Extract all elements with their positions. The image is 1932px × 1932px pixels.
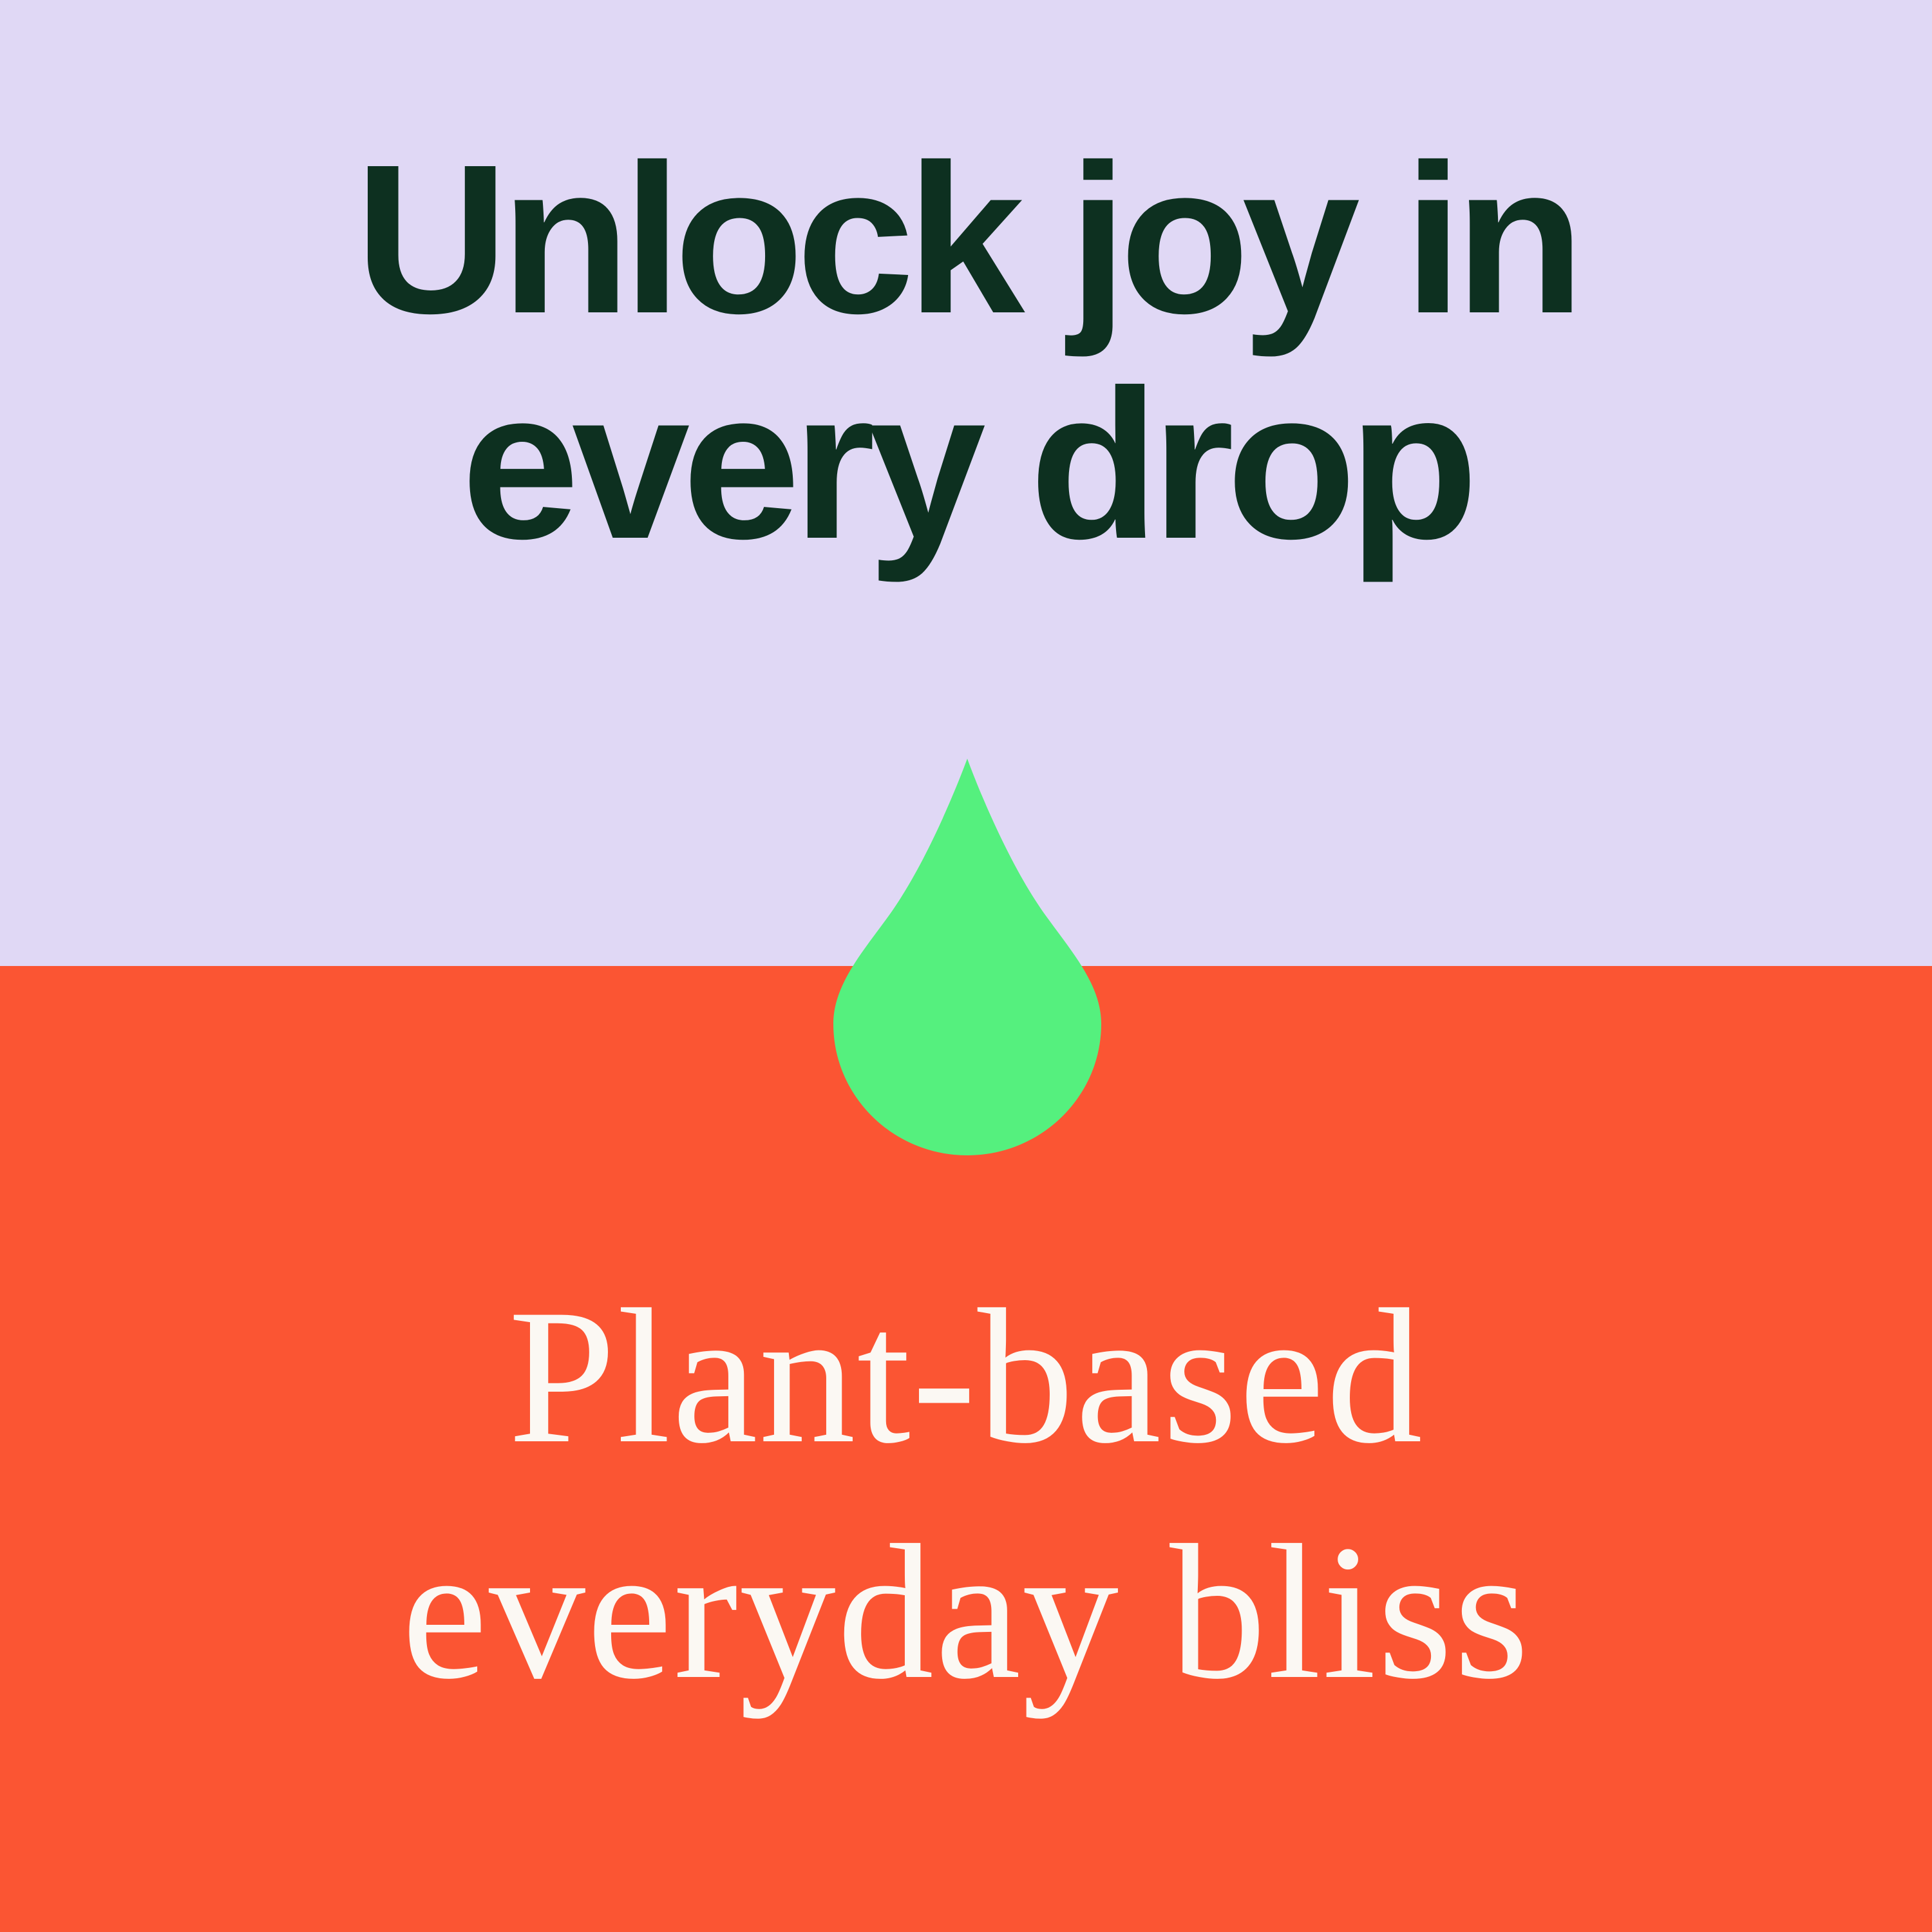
promotional-poster: Unlock joy in every drop Plant-based eve… [0,0,1932,1932]
headline: Unlock joy in every drop [0,126,1932,577]
subheading-line-1: Plant-based [0,1258,1932,1494]
headline-line-1: Unlock joy in [0,126,1932,352]
headline-line-2: every drop [0,352,1932,577]
subheading: Plant-based everyday bliss [0,1258,1932,1730]
subheading-line-2: everyday bliss [0,1494,1932,1730]
water-drop-icon [833,759,1101,1155]
